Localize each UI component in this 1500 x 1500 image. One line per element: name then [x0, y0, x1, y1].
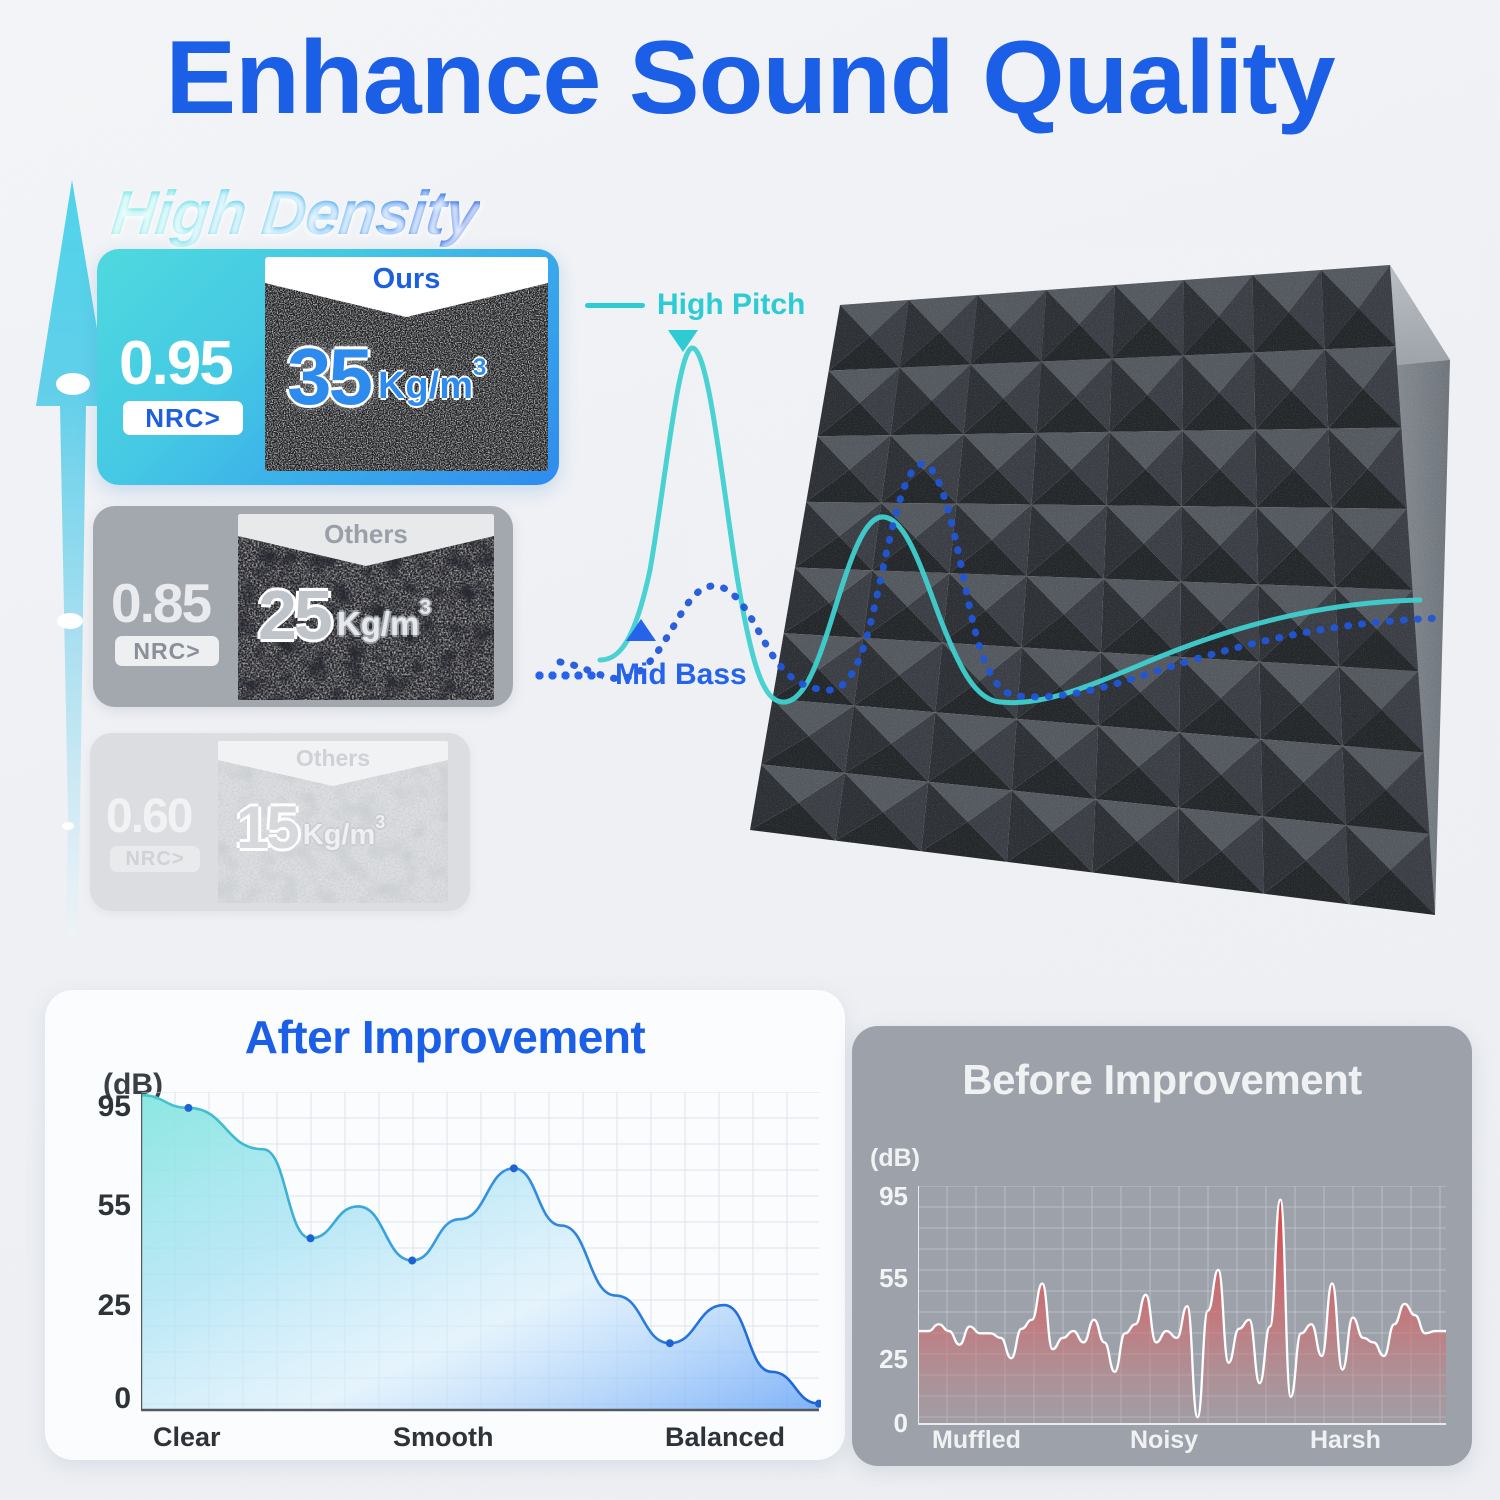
legend-high-pitch: High Pitch — [585, 288, 805, 322]
acoustic-foam-panel-image — [690, 170, 1480, 1010]
brand-label: Others — [218, 745, 448, 772]
high-pitch-marker-icon — [666, 328, 700, 354]
high-density-title: High Density — [108, 178, 482, 249]
nrc-value: 0.85 — [111, 576, 210, 631]
before-y-axis-unit: (dB) — [870, 1144, 920, 1173]
after-ytick-2: 25 — [65, 1289, 131, 1323]
before-xtick-1: Noisy — [1130, 1426, 1198, 1455]
before-ytick-0: 95 — [852, 1181, 908, 1212]
before-ytick-1: 55 — [852, 1263, 908, 1294]
mid-bass-marker-icon — [624, 617, 658, 643]
page-title: Enhance Sound Quality — [0, 24, 1500, 133]
density-value: 25 — [258, 584, 330, 647]
after-ytick-0: 95 — [65, 1090, 131, 1124]
before-xtick-2: Harsh — [1310, 1426, 1381, 1455]
after-xtick-0: Clear — [153, 1422, 221, 1453]
density-unit-sup: 3 — [419, 599, 431, 618]
density-unit-sup: 3 — [375, 814, 385, 830]
before-ytick-2: 25 — [852, 1344, 908, 1375]
nrc-value: 0.60 — [106, 793, 191, 841]
infographic-root: Enhance Sound Quality High Density 0.95 … — [0, 0, 1500, 1500]
mid-bass-dots-icon — [533, 671, 603, 680]
density-value: 15 — [236, 801, 297, 855]
density-value: 35 — [287, 341, 370, 413]
foam-texture-ours: Ours 35 Kg/m 3 — [265, 257, 548, 471]
before-ytick-3: 0 — [852, 1408, 908, 1439]
foam-texture-others-15: Others 15 Kg/m 3 — [218, 741, 448, 903]
high-pitch-line-icon — [585, 303, 645, 308]
after-improvement-plot — [141, 1092, 821, 1432]
density-card-others-15: 0.60 NRC> Others 15 Kg/m — [90, 733, 470, 911]
brand-label: Others — [238, 519, 494, 550]
before-improvement-card: Before Improvement (dB) 95 55 25 0 Muffl… — [852, 1026, 1472, 1466]
legend-mid-bass-label: Mid Bass — [615, 658, 747, 692]
after-xtick-2: Balanced — [665, 1422, 785, 1453]
after-improvement-card: After Improvement (dB) 95 55 25 0 — [45, 990, 845, 1460]
nrc-badge: NRC> — [110, 846, 200, 872]
nrc-badge: NRC> — [115, 636, 219, 666]
density-unit: Kg/m — [303, 822, 376, 848]
density-unit-sup: 3 — [473, 357, 486, 379]
density-card-ours: 0.95 NRC> Ours 35 Kg/m 3 — [97, 249, 559, 485]
brand-label: Ours — [265, 263, 548, 296]
nrc-value: 0.95 — [119, 333, 232, 395]
foam-texture-others-25: Others 25 Kg/m 3 — [238, 514, 494, 700]
before-chart-title: Before Improvement — [852, 1056, 1472, 1104]
before-xtick-0: Muffled — [932, 1426, 1021, 1455]
density-card-others-25: 0.85 NRC> Others 25 Kg/m — [93, 506, 513, 707]
legend-high-pitch-label: High Pitch — [657, 288, 805, 322]
density-unit: Kg/m — [337, 609, 420, 639]
legend-mid-bass: Mid Bass — [533, 658, 747, 692]
after-ytick-1: 55 — [65, 1189, 131, 1223]
after-chart-title: After Improvement — [45, 1010, 845, 1064]
nrc-badge: NRC> — [123, 401, 243, 435]
before-improvement-plot — [918, 1186, 1448, 1448]
after-ytick-3: 0 — [65, 1382, 131, 1416]
after-xtick-1: Smooth — [393, 1422, 494, 1453]
density-unit: Kg/m — [378, 369, 473, 403]
